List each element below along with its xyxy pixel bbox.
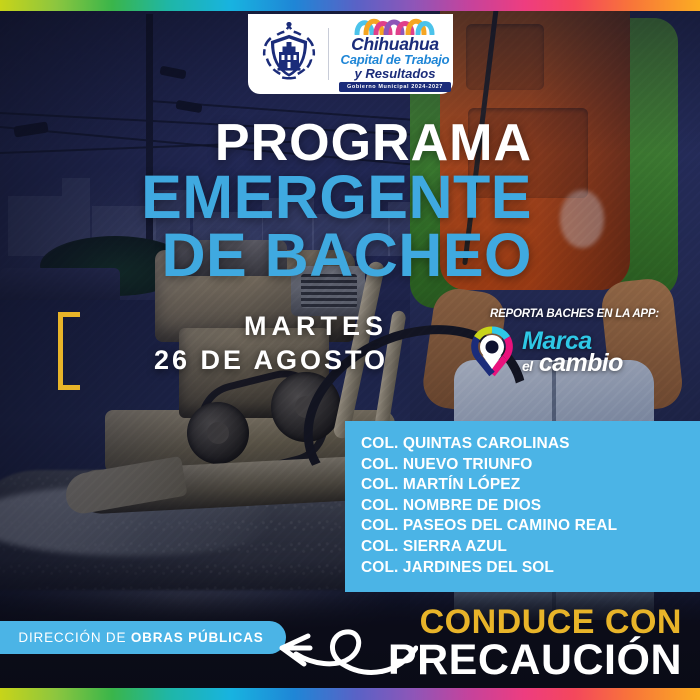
title-line-emergente: EMERGENTE <box>0 169 532 227</box>
colonias-list-panel: COL. QUINTAS CAROLINAS COL. NUEVO TRIUNF… <box>345 421 700 592</box>
app-label: REPORTA BACHES EN LA APP: <box>462 308 687 320</box>
list-item: COL. SIERRA AZUL <box>361 537 700 558</box>
date-text: MARTES 26 DE AGOSTO <box>94 310 388 376</box>
report-app-block: REPORTA BACHES EN LA APP: Marca el cambi… <box>462 308 687 378</box>
caution-line-1: CONDUCE CON <box>388 605 682 639</box>
caution-line-2: PRECAUCIÓN <box>388 639 682 682</box>
app-name-el: el <box>522 358 532 374</box>
logo-government-label: Gobierno Municipal 2024-2027 <box>339 82 451 92</box>
department-label: DIRECCIÓN DE OBRAS PÚBLICAS <box>18 630 263 645</box>
marca-el-cambio-logo: Marca el cambio <box>462 326 687 378</box>
list-item: COL. NOMBRE DE DIOS <box>361 496 700 517</box>
page-title: PROGRAMA EMERGENTE DE BACHEO <box>0 118 546 285</box>
list-item: COL. QUINTAS CAROLINAS <box>361 434 700 455</box>
rainbow-gradient-bar-bottom <box>0 688 700 700</box>
chihuahua-logo-badge: Chihuahua Capital de Trabajo y Resultado… <box>248 14 453 94</box>
list-item: COL. JARDINES DEL SOL <box>361 558 700 579</box>
logo-tagline-1: Capital de Trabajo <box>341 53 450 67</box>
rainbow-gradient-bar-top <box>0 0 700 11</box>
department-prefix: DIRECCIÓN DE <box>18 630 130 645</box>
date-day-month: 26 DE AGOSTO <box>94 344 388 376</box>
app-name-cambio: el cambio <box>522 352 623 374</box>
map-pin-segmented-icon <box>468 326 516 378</box>
curly-arrow-left-icon <box>268 608 418 686</box>
date-weekday: MARTES <box>94 310 388 344</box>
list-item: COL. NUEVO TRIUNFO <box>361 455 700 476</box>
logo-brand: Chihuahua <box>351 36 439 54</box>
chihuahua-coat-of-arms-icon <box>258 21 320 87</box>
open-bracket-icon <box>58 312 80 390</box>
app-name-cambio-word: cambio <box>539 349 623 377</box>
title-line-de-bacheo: DE BACHEO <box>0 227 532 285</box>
chihuahua-rainbow-arches-icon <box>352 15 438 35</box>
title-line-programa: PROGRAMA <box>0 118 532 169</box>
caution-message: CONDUCE CON PRECAUCIÓN <box>388 605 682 682</box>
poster-root: Chihuahua Capital de Trabajo y Resultado… <box>0 0 700 700</box>
date-block: MARTES 26 DE AGOSTO <box>58 312 388 390</box>
department-pill: DIRECCIÓN DE OBRAS PÚBLICAS <box>0 621 286 654</box>
list-item: COL. PASEOS DEL CAMINO REAL <box>361 516 700 537</box>
vest-pocket <box>466 24 544 90</box>
vest-stain <box>560 190 604 248</box>
list-item: COL. MARTÍN LÓPEZ <box>361 475 700 496</box>
logo-tagline-2: y Resultados <box>355 67 436 81</box>
logo-divider <box>328 28 329 80</box>
department-name: OBRAS PÚBLICAS <box>131 630 264 645</box>
logo-wordmark: Chihuahua Capital de Trabajo y Resultado… <box>337 15 451 93</box>
pulley-hub <box>207 422 229 444</box>
app-wordmark: Marca el cambio <box>522 330 623 374</box>
